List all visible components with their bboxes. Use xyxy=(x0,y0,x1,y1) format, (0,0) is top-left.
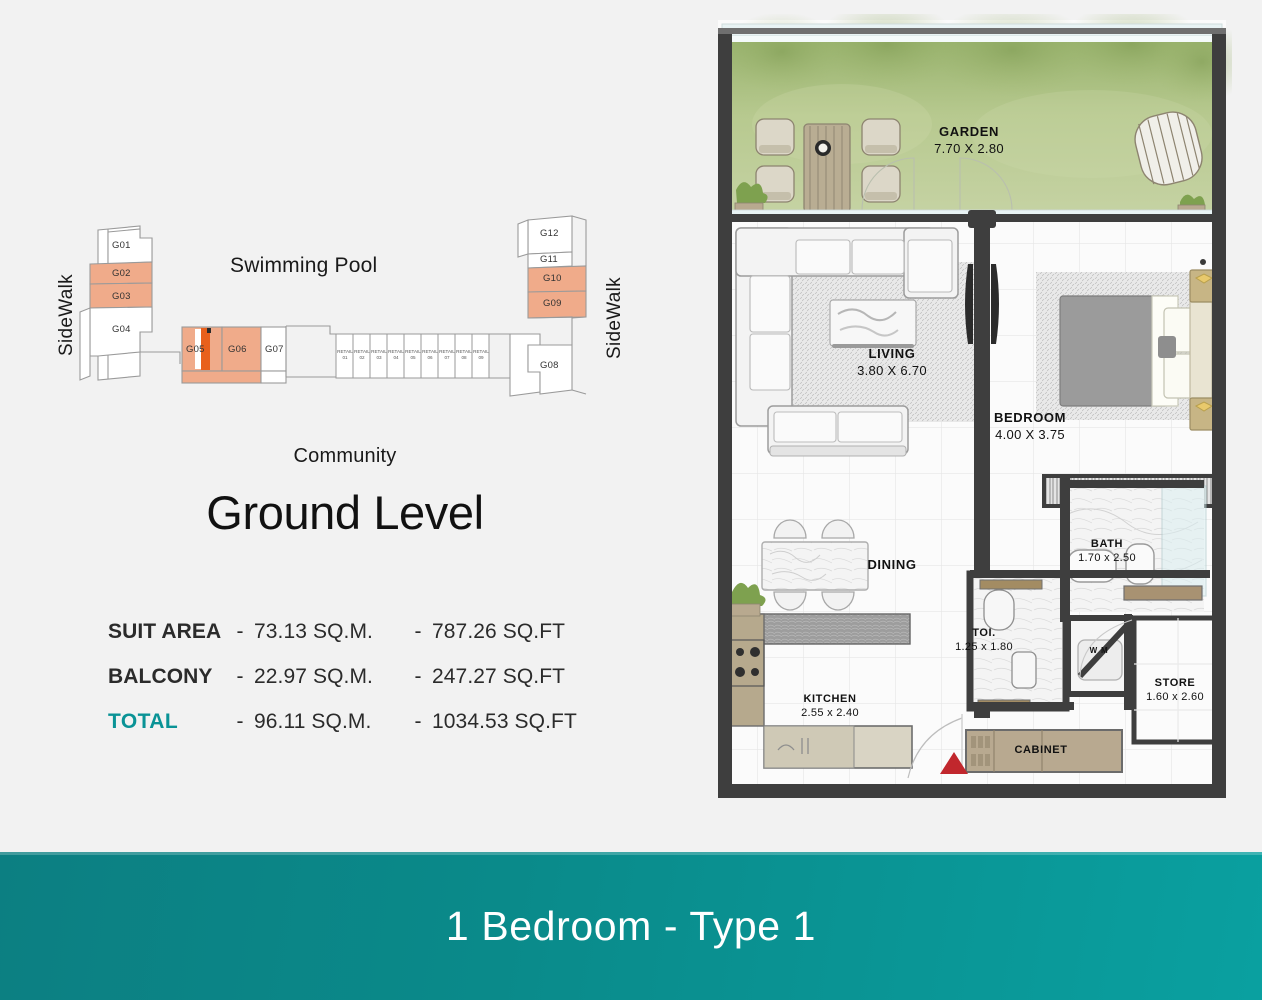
room-dims-living: 3.80 X 6.70 xyxy=(822,363,962,380)
unit-type-title: 1 Bedroom - Type 1 xyxy=(446,903,816,950)
area-dash-6: - xyxy=(404,710,432,734)
page-title: Ground Level xyxy=(0,485,690,540)
room-dims-kitchen: 2.55 x 2.40 xyxy=(760,706,900,720)
room-label-garden: GARDEN 7.70 X 2.80 xyxy=(894,124,1044,157)
swimming-pool-label: Swimming Pool xyxy=(230,254,377,278)
area-summary-table: SUIT AREA - 73.13 SQ.M. - 787.26 SQ.FT B… xyxy=(108,620,608,755)
area-dash-4: - xyxy=(404,665,432,689)
room-name-toilet: TOI. xyxy=(924,626,1044,640)
area-sqft-suit: 787.26 SQ.FT xyxy=(432,620,565,644)
sidewalk-left-label: SideWalk xyxy=(56,274,78,356)
area-sqm-balcony: 22.97 SQ.M. xyxy=(254,665,404,689)
site-retail-09[interactable]: RETAIL 09 xyxy=(473,349,489,360)
room-label-cabinet: CABINET xyxy=(986,743,1096,757)
area-row-balcony: BALCONY - 22.97 SQ.M. - 247.27 SQ.FT xyxy=(108,665,608,710)
room-label-toilet: TOI. 1.25 x 1.80 xyxy=(924,626,1044,654)
area-dash-5: - xyxy=(226,710,254,734)
room-dims-bedroom: 4.00 X 3.75 xyxy=(950,427,1110,444)
area-label-total: TOTAL xyxy=(108,710,226,734)
room-name-bedroom: BEDROOM xyxy=(950,410,1110,427)
site-retail-03[interactable]: RETAIL 03 xyxy=(371,349,387,360)
room-label-kitchen: KITCHEN 2.55 x 2.40 xyxy=(760,692,900,720)
site-unit-g11[interactable]: G11 xyxy=(540,254,558,265)
room-label-dining: DINING xyxy=(827,557,957,574)
room-name-cabinet: CABINET xyxy=(986,743,1096,757)
area-sqft-balcony: 247.27 SQ.FT xyxy=(432,665,565,689)
site-retail-08[interactable]: RETAIL 08 xyxy=(456,349,472,360)
site-unit-g04[interactable]: G04 xyxy=(112,324,131,335)
room-label-store: STORE 1.60 x 2.60 xyxy=(1112,676,1238,704)
site-unit-g09[interactable]: G09 xyxy=(543,298,562,309)
room-label-bedroom: BEDROOM 4.00 X 3.75 xyxy=(950,410,1110,443)
room-name-kitchen: KITCHEN xyxy=(760,692,900,706)
left-info-panel: SideWalk SideWalk Swimming Pool G01 G02 … xyxy=(0,0,690,850)
site-retail-07[interactable]: RETAIL 07 xyxy=(439,349,455,360)
room-name-store: STORE xyxy=(1112,676,1238,690)
room-dims-store: 1.60 x 2.60 xyxy=(1112,690,1238,704)
site-unit-g01[interactable]: G01 xyxy=(112,240,131,251)
room-label-bath: BATH 1.70 x 2.50 xyxy=(1042,537,1172,565)
sidewalk-right-label: SideWalk xyxy=(604,277,626,359)
area-row-total: TOTAL - 96.11 SQ.M. - 1034.53 SQ.FT xyxy=(108,710,608,755)
site-retail-02[interactable]: RETAIL 02 xyxy=(354,349,370,360)
site-unit-g06[interactable]: G06 xyxy=(228,344,247,355)
site-unit-g03[interactable]: G03 xyxy=(112,291,131,302)
room-label-washing-machine: W M xyxy=(1057,646,1141,656)
area-label-balcony: BALCONY xyxy=(108,665,226,689)
room-name-bath: BATH xyxy=(1042,537,1172,551)
area-dash-1: - xyxy=(226,620,254,644)
room-label-living: LIVING 3.80 X 6.70 xyxy=(822,346,962,379)
banner-divider xyxy=(0,852,1262,855)
area-dash-3: - xyxy=(226,665,254,689)
room-dims-bath: 1.70 x 2.50 xyxy=(1042,551,1172,565)
site-retail-01[interactable]: RETAIL 01 xyxy=(337,349,353,360)
room-dims-toilet: 1.25 x 1.80 xyxy=(924,640,1044,654)
area-sqm-total: 96.11 SQ.M. xyxy=(254,710,404,734)
site-unit-g12[interactable]: G12 xyxy=(540,228,559,239)
bottom-banner: 1 Bedroom - Type 1 xyxy=(0,852,1262,1000)
room-name-wm: W M xyxy=(1057,646,1141,656)
site-retail-05[interactable]: RETAIL 05 xyxy=(405,349,421,360)
room-name-garden: GARDEN xyxy=(894,124,1044,141)
community-label: Community xyxy=(0,445,690,468)
site-unit-g10[interactable]: G10 xyxy=(543,273,562,284)
unit-floor-plan[interactable]: GARDEN 7.70 X 2.80 LIVING 3.80 X 6.70 BE… xyxy=(712,14,1232,804)
site-retail-06[interactable]: RETAIL 06 xyxy=(422,349,438,360)
site-unit-g02[interactable]: G02 xyxy=(112,268,131,279)
area-sqft-total: 1034.53 SQ.FT xyxy=(432,710,577,734)
room-name-living: LIVING xyxy=(822,346,962,363)
area-label-suit: SUIT AREA xyxy=(108,620,226,644)
site-unit-g05[interactable]: G05 xyxy=(186,344,205,355)
site-unit-g07[interactable]: G07 xyxy=(265,344,284,355)
area-row-suit: SUIT AREA - 73.13 SQ.M. - 787.26 SQ.FT xyxy=(108,620,608,665)
area-sqm-suit: 73.13 SQ.M. xyxy=(254,620,404,644)
site-retail-04[interactable]: RETAIL 04 xyxy=(388,349,404,360)
room-name-dining: DINING xyxy=(827,557,957,574)
site-unit-g08[interactable]: G08 xyxy=(540,360,559,371)
site-plan[interactable]: SideWalk SideWalk Swimming Pool G01 G02 … xyxy=(40,212,640,412)
floorplan-page: SideWalk SideWalk Swimming Pool G01 G02 … xyxy=(0,0,1262,1000)
room-dims-garden: 7.70 X 2.80 xyxy=(894,141,1044,158)
area-dash-2: - xyxy=(404,620,432,644)
